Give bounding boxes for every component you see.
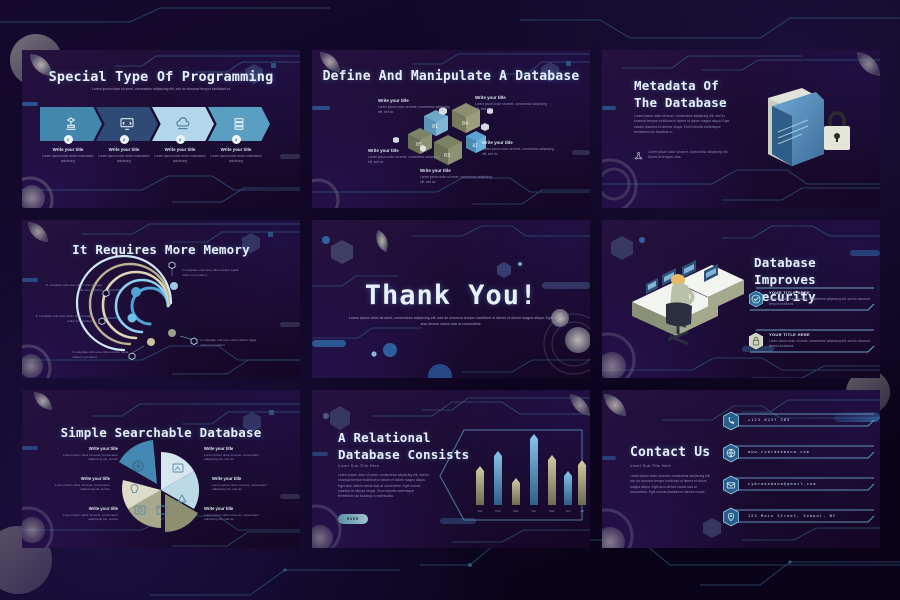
chevron-step-captions: 1 Write your title Lorem ipsum dolor ame… — [40, 135, 264, 163]
slide-subtitle: Insert Sub-Title Here — [630, 464, 671, 468]
note-text: In voluptate velit esse cillum dolore fu… — [72, 350, 134, 359]
title-line-1: Database — [754, 255, 880, 272]
note-text: Lorem ipsum dolor sit amet, consectetur … — [204, 513, 270, 522]
ring-note-2: In voluptate velit esse cillum dolore fu… — [30, 314, 92, 323]
bar-chart-x-labels: JanFebMar AprMayJun Jul — [478, 509, 585, 513]
step-text: Lorem ipsum dolor amet consectetur adipi… — [40, 154, 96, 163]
step-title: Write your title — [40, 147, 96, 152]
phone-icon — [722, 411, 740, 431]
contact-row-phone[interactable]: +123 8237 265 — [722, 411, 872, 429]
contact-value: www.cybrakemana.com — [748, 450, 810, 454]
item-title: YOUR TITLE HERE — [769, 290, 876, 295]
slide-title: Thank You! — [312, 280, 590, 311]
step-number-badge: 2 — [120, 135, 129, 144]
item-text: Lorem ipsum dolor sit amet, consectetur … — [769, 339, 876, 349]
svg-text:Apr: Apr — [532, 509, 537, 513]
globe-icon — [722, 443, 740, 463]
slide-special-type-of-programming[interactable]: Special Type Of Programming Lorem ipsum … — [22, 50, 300, 208]
security-item-2[interactable]: YOUR TITLE HERE Lorem ipsum dolor sit am… — [748, 332, 876, 350]
step-text: Lorem ipsum dolor amet consectetur adipi… — [152, 154, 208, 163]
contact-row-website[interactable]: www.cybrakemana.com — [722, 443, 872, 461]
ring-note-1: In voluptate velit esse cillum dolore fu… — [40, 283, 102, 292]
slide-subtitle: Lorem ipsum dolor sit amet, consectetur … — [348, 315, 554, 328]
slide-title: A Relational Database Consists — [338, 430, 469, 464]
title-line-1: Metadata Of — [634, 78, 727, 95]
note-title: Write your title — [482, 140, 556, 145]
slide-title: Contact Us — [630, 445, 710, 460]
step-title: Write your title — [208, 147, 264, 152]
svg-text:Feb: Feb — [495, 509, 501, 513]
svg-text:03: 03 — [444, 153, 451, 159]
step-title: Write your title — [96, 147, 152, 152]
svg-text:02: 02 — [472, 143, 478, 148]
note-text: Lorem ipsum dolor sit amet, consectetur … — [52, 513, 118, 522]
step-number-badge: 4 — [232, 135, 241, 144]
presentation-preview-board: Special Type Of Programming Lorem ipsum … — [0, 0, 900, 600]
cube-note-3: Write your title Lorem ipsum dolor sit a… — [368, 148, 442, 164]
step-caption-1: 1 Write your title Lorem ipsum dolor ame… — [40, 135, 96, 163]
title-line-2: The Database — [634, 95, 727, 112]
item-title: YOUR TITLE HERE — [769, 332, 876, 337]
shield-check-icon — [748, 290, 764, 308]
pie-note-2: Write your title Lorem ipsum dolor sit a… — [44, 476, 110, 492]
slide-define-and-manipulate-a-database[interactable]: 05 01 04 03 — [312, 50, 590, 208]
ring-note-5: In voluptate velit esse cillum dolore fu… — [200, 338, 262, 347]
title-line-2: Database Consists — [338, 447, 469, 464]
svg-text:01: 01 — [432, 124, 438, 130]
step-number-badge: 3 — [176, 135, 185, 144]
note-title: Write your title — [44, 476, 110, 481]
note-text: In voluptate velit esse cillum dolore fu… — [40, 283, 102, 292]
slide-body: Lorem ipsum dolor sit amet, consectetur … — [634, 114, 731, 135]
svg-text:Mar: Mar — [513, 509, 518, 513]
step-title: Write your title — [152, 147, 208, 152]
note-text: Lorem ipsum dolor sit amet, consectetur … — [420, 175, 494, 184]
contact-value: 123 Main Street, Gempol, NY — [748, 514, 836, 518]
pie-note-6: Write your title Lorem ipsum dolor sit a… — [204, 506, 270, 522]
svg-text:04: 04 — [462, 121, 469, 127]
server-network-icon — [63, 116, 79, 132]
item-text: Lorem ipsum dolor sit amet, consectetur … — [769, 297, 876, 307]
slide-title: Special Type Of Programming — [22, 69, 300, 85]
slide-decoration — [22, 390, 300, 548]
pie-note-3: Write your title Lorem ipsum dolor sit a… — [52, 506, 118, 522]
note-title: Write your title — [475, 95, 549, 100]
cube-note-1: Write your title Lorem ipsum dolor sit a… — [378, 98, 452, 114]
slide-title: Metadata Of The Database — [634, 78, 727, 112]
note-title: Write your title — [204, 506, 270, 511]
contact-value: +123 8237 265 — [748, 418, 790, 422]
cube-note-4: Write your title Lorem ipsum dolor sit a… — [482, 140, 556, 156]
cloud-upload-icon — [175, 116, 191, 132]
highlight-point: Lorem ipsum dolor sit amet, consectetur … — [634, 150, 734, 162]
lock-shield-icon — [748, 332, 764, 350]
pie-note-4: Write your title Lorem ipsum dolor sit a… — [204, 446, 270, 462]
more-button[interactable]: MORE — [338, 514, 368, 524]
slide-simple-searchable-database[interactable]: Simple Searchable Database Write your ti… — [22, 390, 300, 548]
database-stack-icon — [231, 116, 247, 132]
step-caption-3: 3 Write your title Lorem ipsum dolor ame… — [152, 135, 208, 163]
step-number-badge: 1 — [64, 135, 73, 144]
title-line-1: A Relational — [338, 430, 469, 447]
svg-text:Jul: Jul — [580, 509, 584, 513]
note-text: Lorem ipsum dolor sit amet, consectetur … — [204, 453, 270, 462]
slide-metadata-of-the-database[interactable]: Metadata Of The Database Lorem ipsum dol… — [602, 50, 880, 208]
pie-note-1: Write your title Lorem ipsum dolor sit a… — [52, 446, 118, 462]
slide-thank-you[interactable]: Thank You! Lorem ipsum dolor sit amet, c… — [312, 220, 590, 378]
contact-row-address[interactable]: 123 Main Street, Gempol, NY — [722, 507, 872, 525]
slide-database-improves-security[interactable]: Database Improves Security YOUR TITLE HE… — [602, 220, 880, 378]
slide-decoration: JanFebMar AprMayJun Jul — [312, 390, 590, 548]
note-text: Lorem ipsum dolor sit amet, consectetur … — [378, 105, 452, 114]
cube-note-2: Write your title Lorem ipsum dolor sit a… — [475, 95, 549, 111]
ring-note-3: In voluptate velit esse cillum dolore fu… — [182, 268, 244, 277]
step-text: Lorem ipsum dolor amet consectetur adipi… — [208, 154, 264, 163]
step-caption-4: 4 Write your title Lorem ipsum dolor ame… — [208, 135, 264, 163]
svg-text:Jun: Jun — [566, 509, 571, 513]
note-text: Lorem ipsum dolor sit amet, consectetur … — [475, 102, 549, 111]
cube-note-5: Write your title Lorem ipsum dolor sit a… — [420, 168, 494, 184]
svg-text:May: May — [549, 509, 555, 513]
note-title: Write your title — [52, 446, 118, 451]
slide-contact-us[interactable]: Contact Us Insert Sub-Title Here Lorem i… — [602, 390, 880, 548]
note-text: In voluptate velit esse cillum dolore fu… — [200, 338, 262, 347]
slide-title: Simple Searchable Database — [22, 425, 300, 440]
envelope-icon — [722, 475, 740, 495]
contact-value: cybrakemana@gmail.com — [748, 482, 817, 486]
contact-row-frames — [726, 414, 874, 522]
note-text: Lorem ipsum dolor sit amet, consectetur … — [482, 147, 556, 156]
contact-row-email[interactable]: cybrakemana@gmail.com — [722, 475, 872, 493]
slide-a-relational-database-consists[interactable]: JanFebMar AprMayJun Jul A Relational Dat… — [312, 390, 590, 548]
note-text: Lorem ipsum dolor sit amet, consectetur … — [52, 453, 118, 462]
office-illustration — [632, 260, 744, 344]
note-title: Write your title — [204, 446, 270, 451]
folder-lock-illustration — [768, 88, 850, 166]
pie-note-5: Write your title Lorem ipsum dolor sit a… — [212, 476, 278, 492]
note-text: Lorem ipsum dolor sit amet, consectetur … — [44, 483, 110, 492]
slide-body: Lorem ipsum dolor sit amet, consectetur … — [630, 474, 714, 496]
slide-grid: Special Type Of Programming Lorem ipsum … — [22, 50, 880, 548]
note-text: In voluptate velit esse cillum dolore fu… — [182, 268, 244, 277]
slide-subtitle: Lorem ipsum dolor sit amet, consectetur … — [52, 87, 270, 92]
step-caption-2: 2 Write your title Lorem ipsum dolor ame… — [96, 135, 152, 163]
highlight-text: Lorem ipsum dolor sit amet, consectetur … — [648, 150, 734, 160]
security-item-1[interactable]: YOUR TITLE HERE Lorem ipsum dolor sit am… — [748, 290, 876, 308]
step-text: Lorem ipsum dolor amet consectetur adipi… — [96, 154, 152, 163]
slide-title: Define And Manipulate A Database — [312, 69, 590, 84]
note-title: Write your title — [420, 168, 494, 173]
note-text: In voluptate velit esse cillum dolore fu… — [30, 314, 92, 323]
slide-subtitle: Insert Sub-Title Here — [338, 464, 379, 468]
slide-title: It Requires More Memory — [22, 242, 300, 257]
note-text: Lorem ipsum dolor sit amet, consectetur … — [368, 155, 442, 164]
note-title: Write your title — [368, 148, 442, 153]
slide-it-requires-more-memory[interactable]: It Requires More Memory In voluptate vel… — [22, 220, 300, 378]
ring-note-4: In voluptate velit esse cillum dolore fu… — [72, 350, 134, 359]
bar-chart-bars — [476, 434, 586, 505]
slide-body: Lorem ipsum dolor sit amet, consectetur … — [338, 473, 430, 500]
svg-text:Jan: Jan — [478, 509, 483, 513]
spiral-rings — [77, 256, 171, 350]
share-nodes-icon — [634, 150, 643, 162]
monitor-code-icon — [119, 116, 135, 132]
note-title: Write your title — [52, 506, 118, 511]
note-title: Write your title — [212, 476, 278, 481]
pie-chart — [119, 440, 199, 532]
note-text: Lorem ipsum dolor sit amet, consectetur … — [212, 483, 278, 492]
note-title: Write your title — [378, 98, 452, 103]
map-pin-icon — [722, 507, 740, 527]
